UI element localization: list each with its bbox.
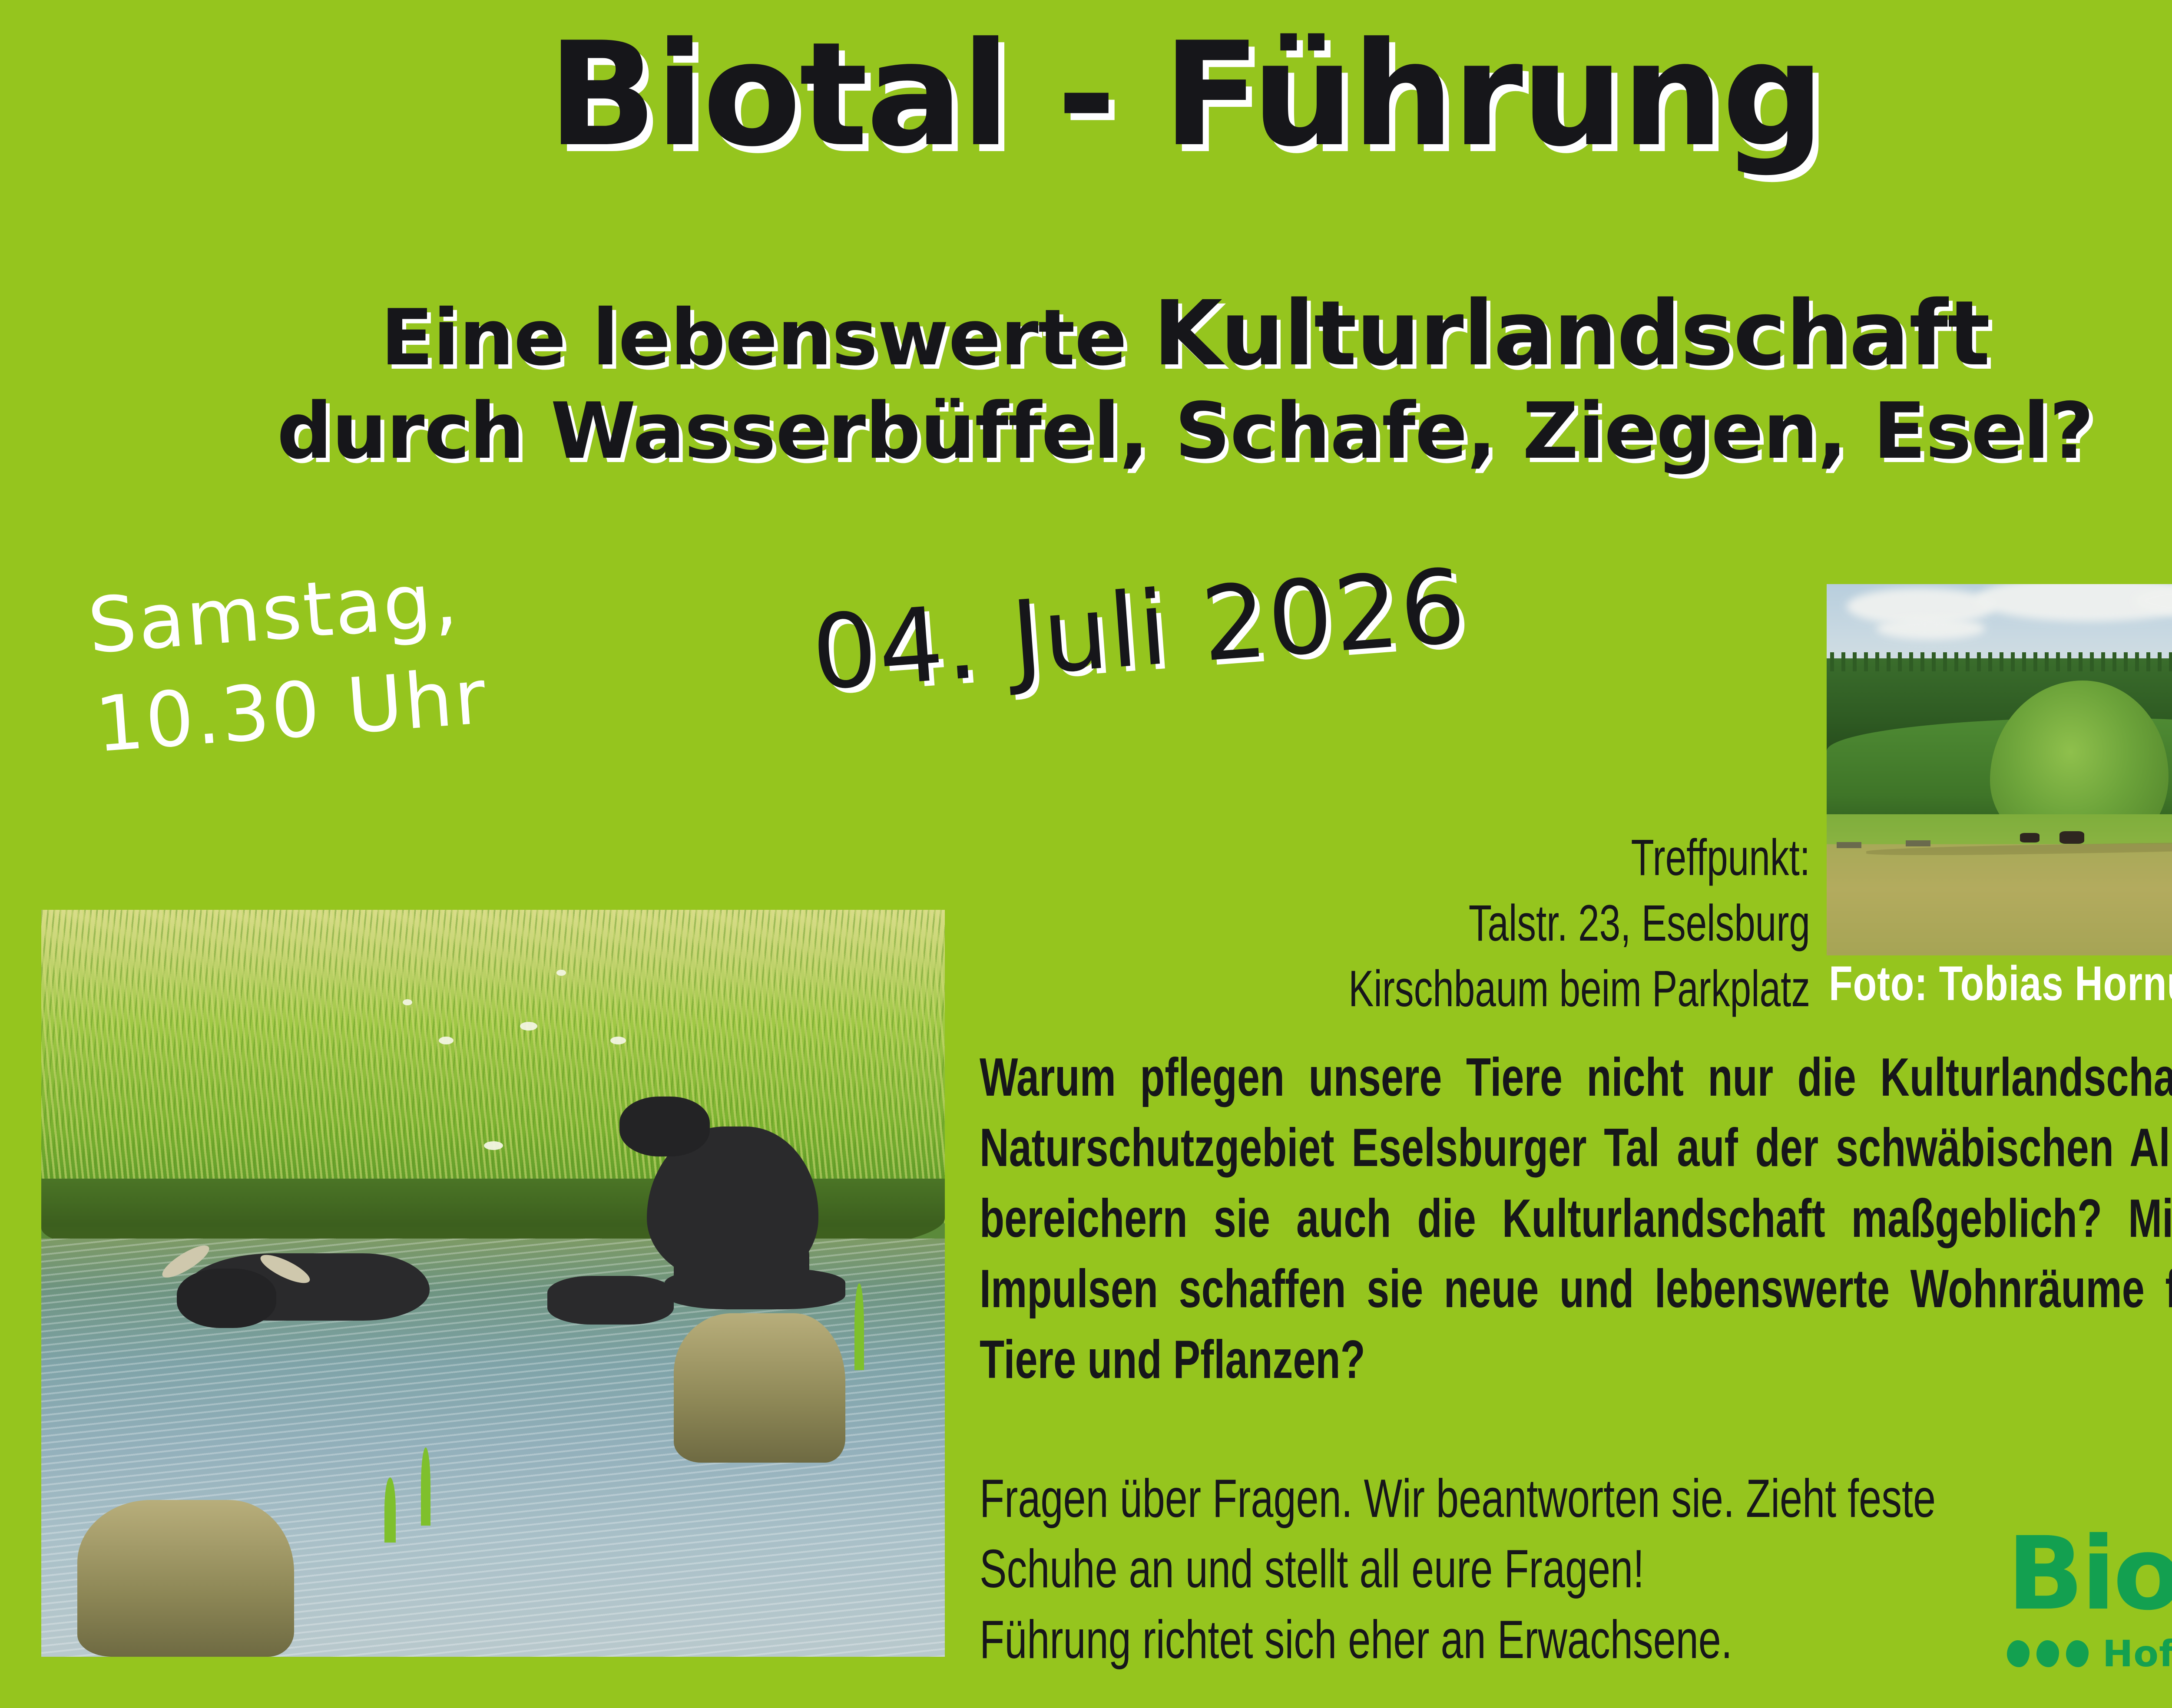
bench bbox=[1906, 840, 1930, 846]
meeting-point: Treffpunkt: Talstr. 23, Eselsburg Kirsch… bbox=[1103, 825, 1810, 1022]
logo-tagline-row: Hofgemeinschaft bbox=[2007, 1632, 2172, 1675]
grazing-animal bbox=[2059, 831, 2084, 844]
wildflower bbox=[556, 970, 566, 976]
bench bbox=[1837, 842, 1861, 848]
meeting-point-label: Treffpunkt: bbox=[1103, 825, 1810, 891]
body-paragraph-2: Fragen über Fragen. Wir beantworten sie.… bbox=[980, 1464, 2172, 1675]
leaf-dot-icon bbox=[2036, 1640, 2059, 1667]
buffalo-photo bbox=[41, 910, 945, 1657]
dry-meadow bbox=[1827, 844, 2172, 956]
cloud bbox=[1876, 618, 1985, 640]
water-buffalo-submerged bbox=[665, 1269, 845, 1310]
biotal-logo: Biotal Hofgemeinschaft bbox=[2007, 1529, 2172, 1675]
tussock bbox=[674, 1313, 845, 1463]
buffalo-head bbox=[177, 1269, 276, 1328]
tussock bbox=[77, 1500, 294, 1657]
body-paragraph-2-line-2: Schuhe an und stellt all eure Fragen! bbox=[980, 1534, 2172, 1604]
event-daytime: Samstag, 10.30 Uhr bbox=[85, 549, 490, 775]
buffalo-head bbox=[619, 1097, 710, 1156]
subtitle-line-1: Eine lebenswerte Kulturlandschaft bbox=[0, 287, 2172, 380]
subtitle-line-2: durch Wasserbüffel, Schafe, Ziegen, Esel… bbox=[0, 391, 2172, 472]
water-plant bbox=[421, 1447, 430, 1526]
leaf-dot-icon bbox=[2007, 1640, 2030, 1667]
subtitle-line-1-lead: Eine lebenswerte bbox=[381, 293, 1153, 383]
water-plant bbox=[854, 1283, 864, 1370]
body-paragraph-1: Warum pflegen unsere Tiere nicht nur die… bbox=[980, 1042, 2172, 1395]
meeting-point-address: Talstr. 23, Eselsburg bbox=[1103, 891, 1810, 956]
meeting-point-detail: Kirschbaum beim Parkplatz bbox=[1103, 956, 1810, 1022]
water-buffalo-calf bbox=[547, 1276, 674, 1325]
leaf-dot-icon bbox=[2066, 1640, 2089, 1667]
logo-tagline: Hofgemeinschaft bbox=[2102, 1632, 2172, 1675]
grazing-animal bbox=[2020, 833, 2040, 842]
logo-wordmark: Biotal bbox=[2007, 1529, 2172, 1619]
photo-credit: Foto: Tobias Hornung bbox=[1829, 955, 2172, 1011]
subtitle-line-1-emphasis: Kulturlandschaft bbox=[1153, 281, 1990, 386]
landscape-photo bbox=[1827, 584, 2172, 955]
body-paragraph-2-line-1: Fragen über Fragen. Wir beantworten sie.… bbox=[980, 1464, 2172, 1534]
event-date: 04. Juli 2026 bbox=[808, 547, 1470, 713]
page-title: Biotal - Führung bbox=[0, 22, 2172, 168]
body-paragraph-2-line-3: Führung richtet sich eher an Erwachsene. bbox=[980, 1605, 2172, 1675]
